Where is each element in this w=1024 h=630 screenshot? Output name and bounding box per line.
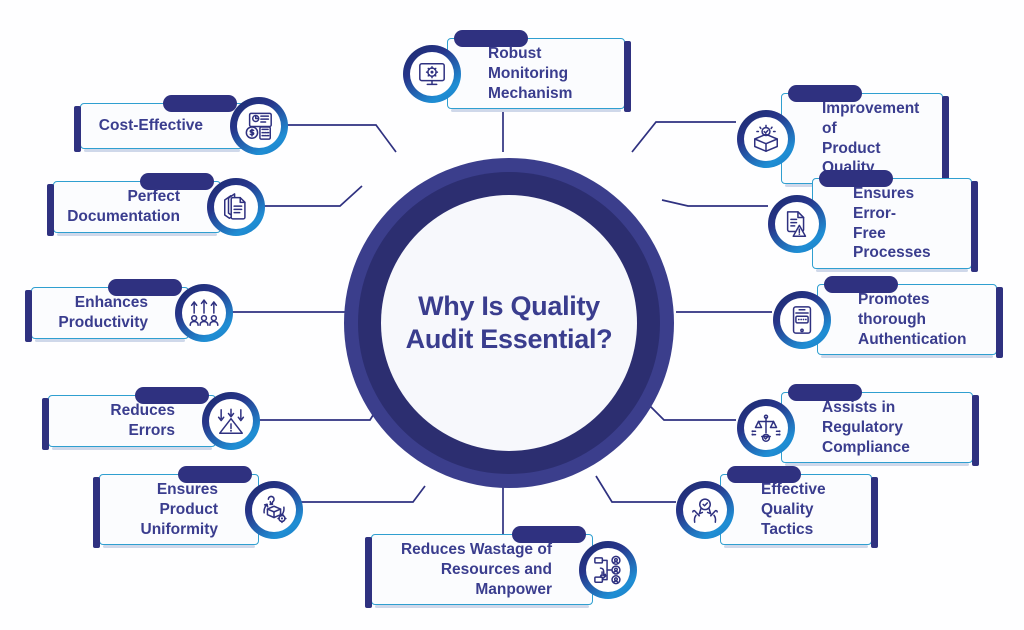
label-enhances-productivity: Enhances Productivity: [58, 293, 148, 333]
connector-regulatory: [648, 404, 736, 420]
box-check-icon: [744, 117, 788, 161]
node-perfect-documentation[interactable]: Perfect Documentation: [53, 178, 265, 236]
connector-improvement: [632, 122, 736, 152]
card-under-shadow: [816, 269, 968, 272]
arrows-down-warning-icon: [209, 399, 253, 443]
workflow-people-icon: [586, 548, 630, 592]
card-effective-quality-tactics[interactable]: Effective Quality Tactics: [720, 474, 872, 545]
invoice-money-icon: [237, 104, 281, 148]
connector-error-free: [662, 200, 768, 206]
label-ensures-product-uniformity: Ensures Product Uniformity: [114, 480, 218, 539]
node-robust-monitoring-mechanism[interactable]: Robust Monitoring Mechanism: [403, 38, 625, 109]
phone-password-icon: [780, 298, 824, 342]
badge-improvement-of-product-quality: [737, 110, 795, 168]
card-edge-shadow: [942, 96, 949, 187]
node-ensures-product-uniformity[interactable]: Ensures Product Uniformity: [99, 474, 303, 545]
badge-promotes-thorough-authentication: [773, 291, 831, 349]
center-hub: Why Is Quality Audit Essential?: [344, 158, 674, 488]
label-cost-effective: Cost-Effective: [99, 116, 203, 136]
card-edge-shadow: [972, 395, 979, 466]
monitor-gear-icon: [410, 52, 454, 96]
label-reduces-errors: Reduces Errors: [63, 401, 175, 441]
badge-robust-monitoring-mechanism: [403, 45, 461, 103]
scales-circuit-icon: [744, 406, 788, 450]
hub-core: Why Is Quality Audit Essential?: [381, 195, 637, 451]
hands-badge-icon: [683, 488, 727, 532]
card-under-shadow: [52, 447, 212, 450]
card-edge-shadow: [42, 398, 49, 450]
label-improvement-of-product-quality: Improvement of Product Quality: [822, 99, 928, 178]
card-ensures-product-uniformity[interactable]: Ensures Product Uniformity: [99, 474, 259, 545]
card-edge-shadow: [93, 477, 100, 548]
card-edge-shadow: [624, 41, 631, 112]
badge-assists-in-regulatory-compliance: [737, 399, 795, 457]
card-edge-shadow: [871, 477, 878, 548]
card-edge-shadow: [996, 287, 1003, 358]
card-edge-shadow: [47, 184, 54, 236]
page-title: Why Is Quality Audit Essential?: [406, 290, 613, 356]
node-cost-effective[interactable]: Cost-Effective: [80, 97, 288, 155]
connector-cost-effective: [284, 125, 396, 152]
card-cost-effective[interactable]: Cost-Effective: [80, 103, 244, 149]
card-edge-shadow: [365, 537, 372, 608]
badge-reduces-wastage-of-resources-and-manpower: [579, 541, 637, 599]
card-reduces-wastage-of-resources-and-manpower[interactable]: Reduces Wastage of Resources and Manpowe…: [371, 534, 593, 605]
label-effective-quality-tactics: Effective Quality Tactics: [761, 480, 857, 539]
card-under-shadow: [785, 463, 969, 466]
connector-reduces-errors: [246, 404, 380, 420]
card-edge-shadow: [25, 290, 32, 342]
badge-cost-effective: [230, 97, 288, 155]
card-under-shadow: [103, 545, 255, 548]
badge-perfect-documentation: [207, 178, 265, 236]
card-enhances-productivity[interactable]: Enhances Productivity: [31, 287, 189, 339]
badge-reduces-errors: [202, 392, 260, 450]
document-warning-icon: [775, 202, 819, 246]
card-under-shadow: [84, 149, 240, 152]
node-assists-in-regulatory-compliance[interactable]: Assists in Regulatory Compliance: [737, 392, 973, 463]
card-under-shadow: [57, 233, 217, 236]
node-promotes-thorough-authentication[interactable]: Promotes thorough Authentication: [773, 284, 997, 355]
label-promotes-thorough-authentication: Promotes thorough Authentication: [858, 290, 982, 349]
badge-ensures-product-uniformity: [245, 481, 303, 539]
connector-product-uniformity: [297, 486, 425, 502]
card-perfect-documentation[interactable]: Perfect Documentation: [53, 181, 221, 233]
card-under-shadow: [821, 355, 993, 358]
card-reduces-errors[interactable]: Reduces Errors: [48, 395, 216, 447]
node-enhances-productivity[interactable]: Enhances Productivity: [31, 284, 233, 342]
label-robust-monitoring-mechanism: Robust Monitoring Mechanism: [488, 44, 610, 103]
label-ensures-error-free-processes: Ensures Error- Free Processes: [853, 184, 957, 263]
card-under-shadow: [451, 109, 621, 112]
node-reduces-errors[interactable]: Reduces Errors: [48, 392, 260, 450]
box-cycle-gear-icon: [252, 488, 296, 532]
card-edge-shadow: [971, 181, 978, 272]
label-reduces-wastage-of-resources-and-manpower: Reduces Wastage of Resources and Manpowe…: [386, 540, 552, 599]
node-ensures-error-free-processes[interactable]: Ensures Error- Free Processes: [768, 178, 972, 269]
card-assists-in-regulatory-compliance[interactable]: Assists in Regulatory Compliance: [781, 392, 973, 463]
card-under-shadow: [724, 545, 868, 548]
badge-ensures-error-free-processes: [768, 195, 826, 253]
node-effective-quality-tactics[interactable]: Effective Quality Tactics: [676, 474, 872, 545]
badge-enhances-productivity: [175, 284, 233, 342]
card-robust-monitoring-mechanism[interactable]: Robust Monitoring Mechanism: [447, 38, 625, 109]
card-under-shadow: [35, 339, 185, 342]
card-edge-shadow: [74, 106, 81, 152]
connector-effective-tactics: [596, 476, 676, 502]
card-tab-cost-effective: [163, 95, 237, 112]
infographic-canvas: Why Is Quality Audit Essential? Robust M…: [0, 0, 1024, 630]
connector-documentation: [250, 186, 362, 206]
card-under-shadow: [375, 605, 589, 608]
node-reduces-wastage-of-resources-and-manpower[interactable]: Reduces Wastage of Resources and Manpowe…: [371, 534, 637, 605]
documents-stack-icon: [214, 185, 258, 229]
arrows-up-people-icon: [182, 291, 226, 335]
badge-effective-quality-tactics: [676, 481, 734, 539]
card-promotes-thorough-authentication[interactable]: Promotes thorough Authentication: [817, 284, 997, 355]
card-ensures-error-free-processes[interactable]: Ensures Error- Free Processes: [812, 178, 972, 269]
label-assists-in-regulatory-compliance: Assists in Regulatory Compliance: [822, 398, 958, 457]
label-perfect-documentation: Perfect Documentation: [67, 187, 180, 227]
